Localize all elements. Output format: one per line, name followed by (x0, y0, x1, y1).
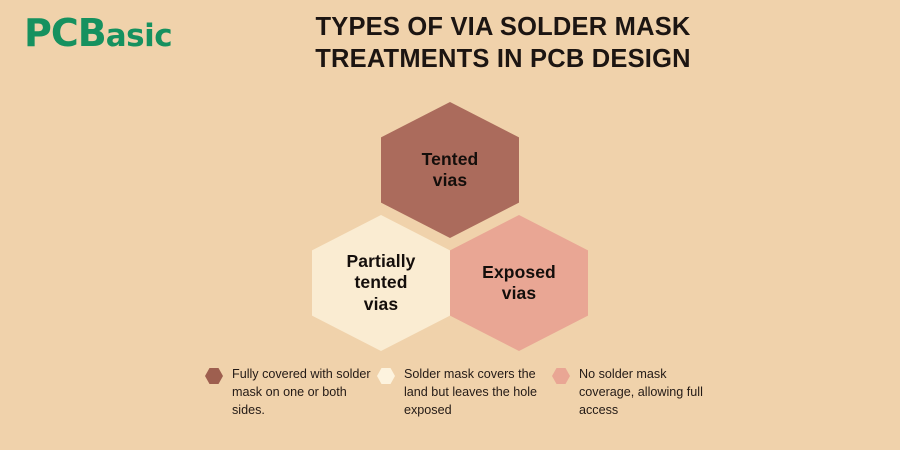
legend-item-text: Fully covered with solder mask on one or… (232, 366, 372, 420)
hexagon-exposed-line-2: vias (502, 283, 536, 303)
hexagon-partially-tented-line-1: Partially (347, 251, 416, 271)
hexagon-diagram: Partially tented vias Exposed vias Tente… (0, 0, 900, 370)
legend-item: Fully covered with solder mask on one or… (205, 366, 377, 420)
hexagon-tented-label: Tented vias (414, 149, 487, 192)
hexagon-exposed-label: Exposed vias (474, 262, 564, 305)
legend-item: Solder mask covers the land but leaves t… (377, 366, 552, 420)
legend-item-text: No solder mask coverage, allowing full a… (579, 366, 719, 420)
hexagon-exposed-line-1: Exposed (482, 262, 556, 282)
hexagon-bullet-icon (552, 368, 570, 384)
legend: Fully covered with solder mask on one or… (205, 366, 805, 420)
legend-item-text: Solder mask covers the land but leaves t… (404, 366, 544, 420)
hexagon-tented-line-1: Tented (422, 149, 479, 169)
hexagon-partially-tented-line-3: vias (364, 294, 398, 314)
hexagon-partially-tented-label: Partially tented vias (339, 251, 424, 315)
hexagon-bullet-icon (205, 368, 223, 384)
infographic-canvas: PCBasic TYPES OF VIA SOLDER MASK TREATME… (0, 0, 900, 450)
legend-item: No solder mask coverage, allowing full a… (552, 366, 727, 420)
hexagon-partially-tented-line-2: tented (354, 272, 407, 292)
hexagon-bullet-icon (377, 368, 395, 384)
hexagon-tented-line-2: vias (433, 170, 467, 190)
